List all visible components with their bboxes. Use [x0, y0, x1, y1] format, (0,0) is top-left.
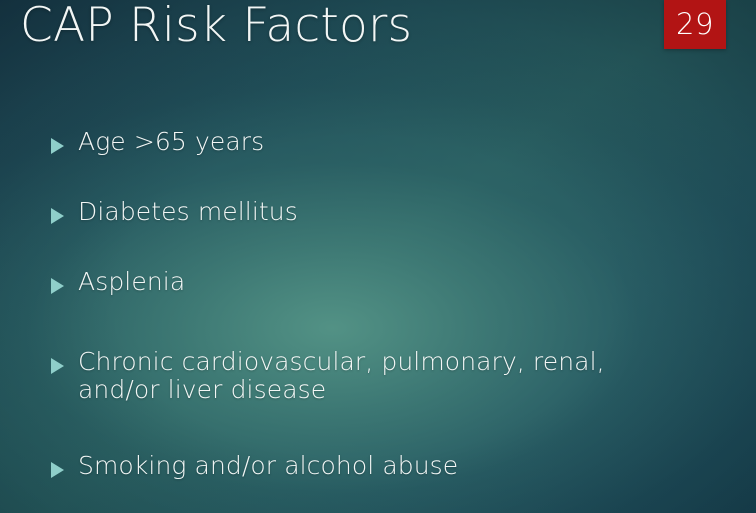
triangle-right-icon — [51, 462, 64, 478]
list-item-label: Asplenia — [78, 266, 648, 296]
list-item-label: Diabetes mellitus — [78, 196, 648, 226]
page-title: CAP Risk Factors — [20, 0, 412, 54]
triangle-right-icon — [51, 208, 64, 224]
risk-factor-list: Age >65 years Diabetes mellitus Asplenia… — [0, 126, 756, 484]
list-item-label: Smoking and/or alcohol abuse — [78, 450, 648, 480]
list-item: Diabetes mellitus — [0, 196, 756, 230]
list-item-label: Chronic cardiovascular, pulmonary, renal… — [78, 346, 648, 404]
page-number-badge: 29 — [664, 0, 726, 49]
list-item: Chronic cardiovascular, pulmonary, renal… — [0, 346, 756, 404]
triangle-right-icon — [51, 138, 64, 154]
list-item: Smoking and/or alcohol abuse — [0, 450, 756, 484]
list-item-label: Age >65 years — [78, 126, 648, 156]
list-item: Asplenia — [0, 266, 756, 300]
list-item: Age >65 years — [0, 126, 756, 160]
triangle-right-icon — [51, 358, 64, 374]
page-number-text: 29 — [676, 10, 714, 39]
triangle-right-icon — [51, 278, 64, 294]
presentation-slide: CAP Risk Factors 29 Age >65 years Diabet… — [0, 0, 756, 513]
